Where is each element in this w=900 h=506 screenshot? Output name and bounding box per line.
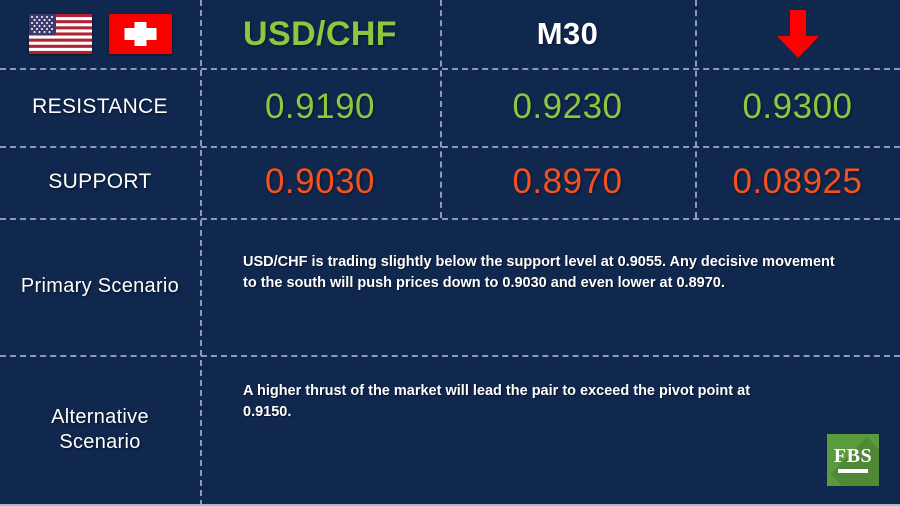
- resistance-value-2-cell: 0.9230: [440, 68, 695, 146]
- forex-signal-card: USD/CHF M30 RESISTANCE 0.9190 0.9230 0.9…: [0, 0, 900, 506]
- support-value-1: 0.9030: [265, 162, 375, 202]
- resistance-value-1: 0.9190: [265, 87, 375, 127]
- fbs-logo-underline: [838, 469, 868, 473]
- alternative-scenario-label-cell: Alternative Scenario: [0, 355, 200, 504]
- pair-label: USD/CHF: [243, 15, 397, 54]
- resistance-value-2: 0.9230: [512, 87, 622, 127]
- support-value-1-cell: 0.9030: [200, 146, 440, 218]
- resistance-value-3: 0.9300: [742, 87, 852, 127]
- support-row-label: SUPPORT: [0, 146, 200, 218]
- support-value-2-cell: 0.8970: [440, 146, 695, 218]
- currency-flags: [0, 0, 200, 68]
- resistance-value-3-cell: 0.9300: [695, 68, 900, 146]
- primary-scenario-label: Primary Scenario: [21, 274, 179, 299]
- us-flag-icon: [29, 14, 92, 54]
- resistance-row-label: RESISTANCE: [0, 68, 200, 146]
- arrow-down-icon: [775, 8, 821, 60]
- timeframe-label: M30: [537, 16, 599, 52]
- fbs-logo: FBS: [827, 434, 879, 486]
- switzerland-flag-icon: [109, 14, 172, 54]
- currency-pair-title: USD/CHF: [200, 0, 440, 68]
- timeframe-title: M30: [440, 0, 695, 68]
- resistance-label: RESISTANCE: [32, 94, 168, 120]
- support-value-3: 0.08925: [732, 162, 862, 202]
- support-value-2: 0.8970: [512, 162, 622, 202]
- support-label: SUPPORT: [48, 169, 151, 195]
- fbs-logo-text: FBS: [827, 445, 879, 468]
- primary-scenario-text: USD/CHF is trading slightly below the su…: [243, 252, 851, 294]
- primary-scenario-label-cell: Primary Scenario: [0, 218, 200, 355]
- resistance-value-1-cell: 0.9190: [200, 68, 440, 146]
- alternative-scenario-text: A higher thrust of the market will lead …: [243, 381, 788, 423]
- support-value-3-cell: 0.08925: [695, 146, 900, 218]
- alternative-scenario-label: Alternative Scenario: [25, 405, 175, 455]
- trend-direction: [695, 0, 900, 68]
